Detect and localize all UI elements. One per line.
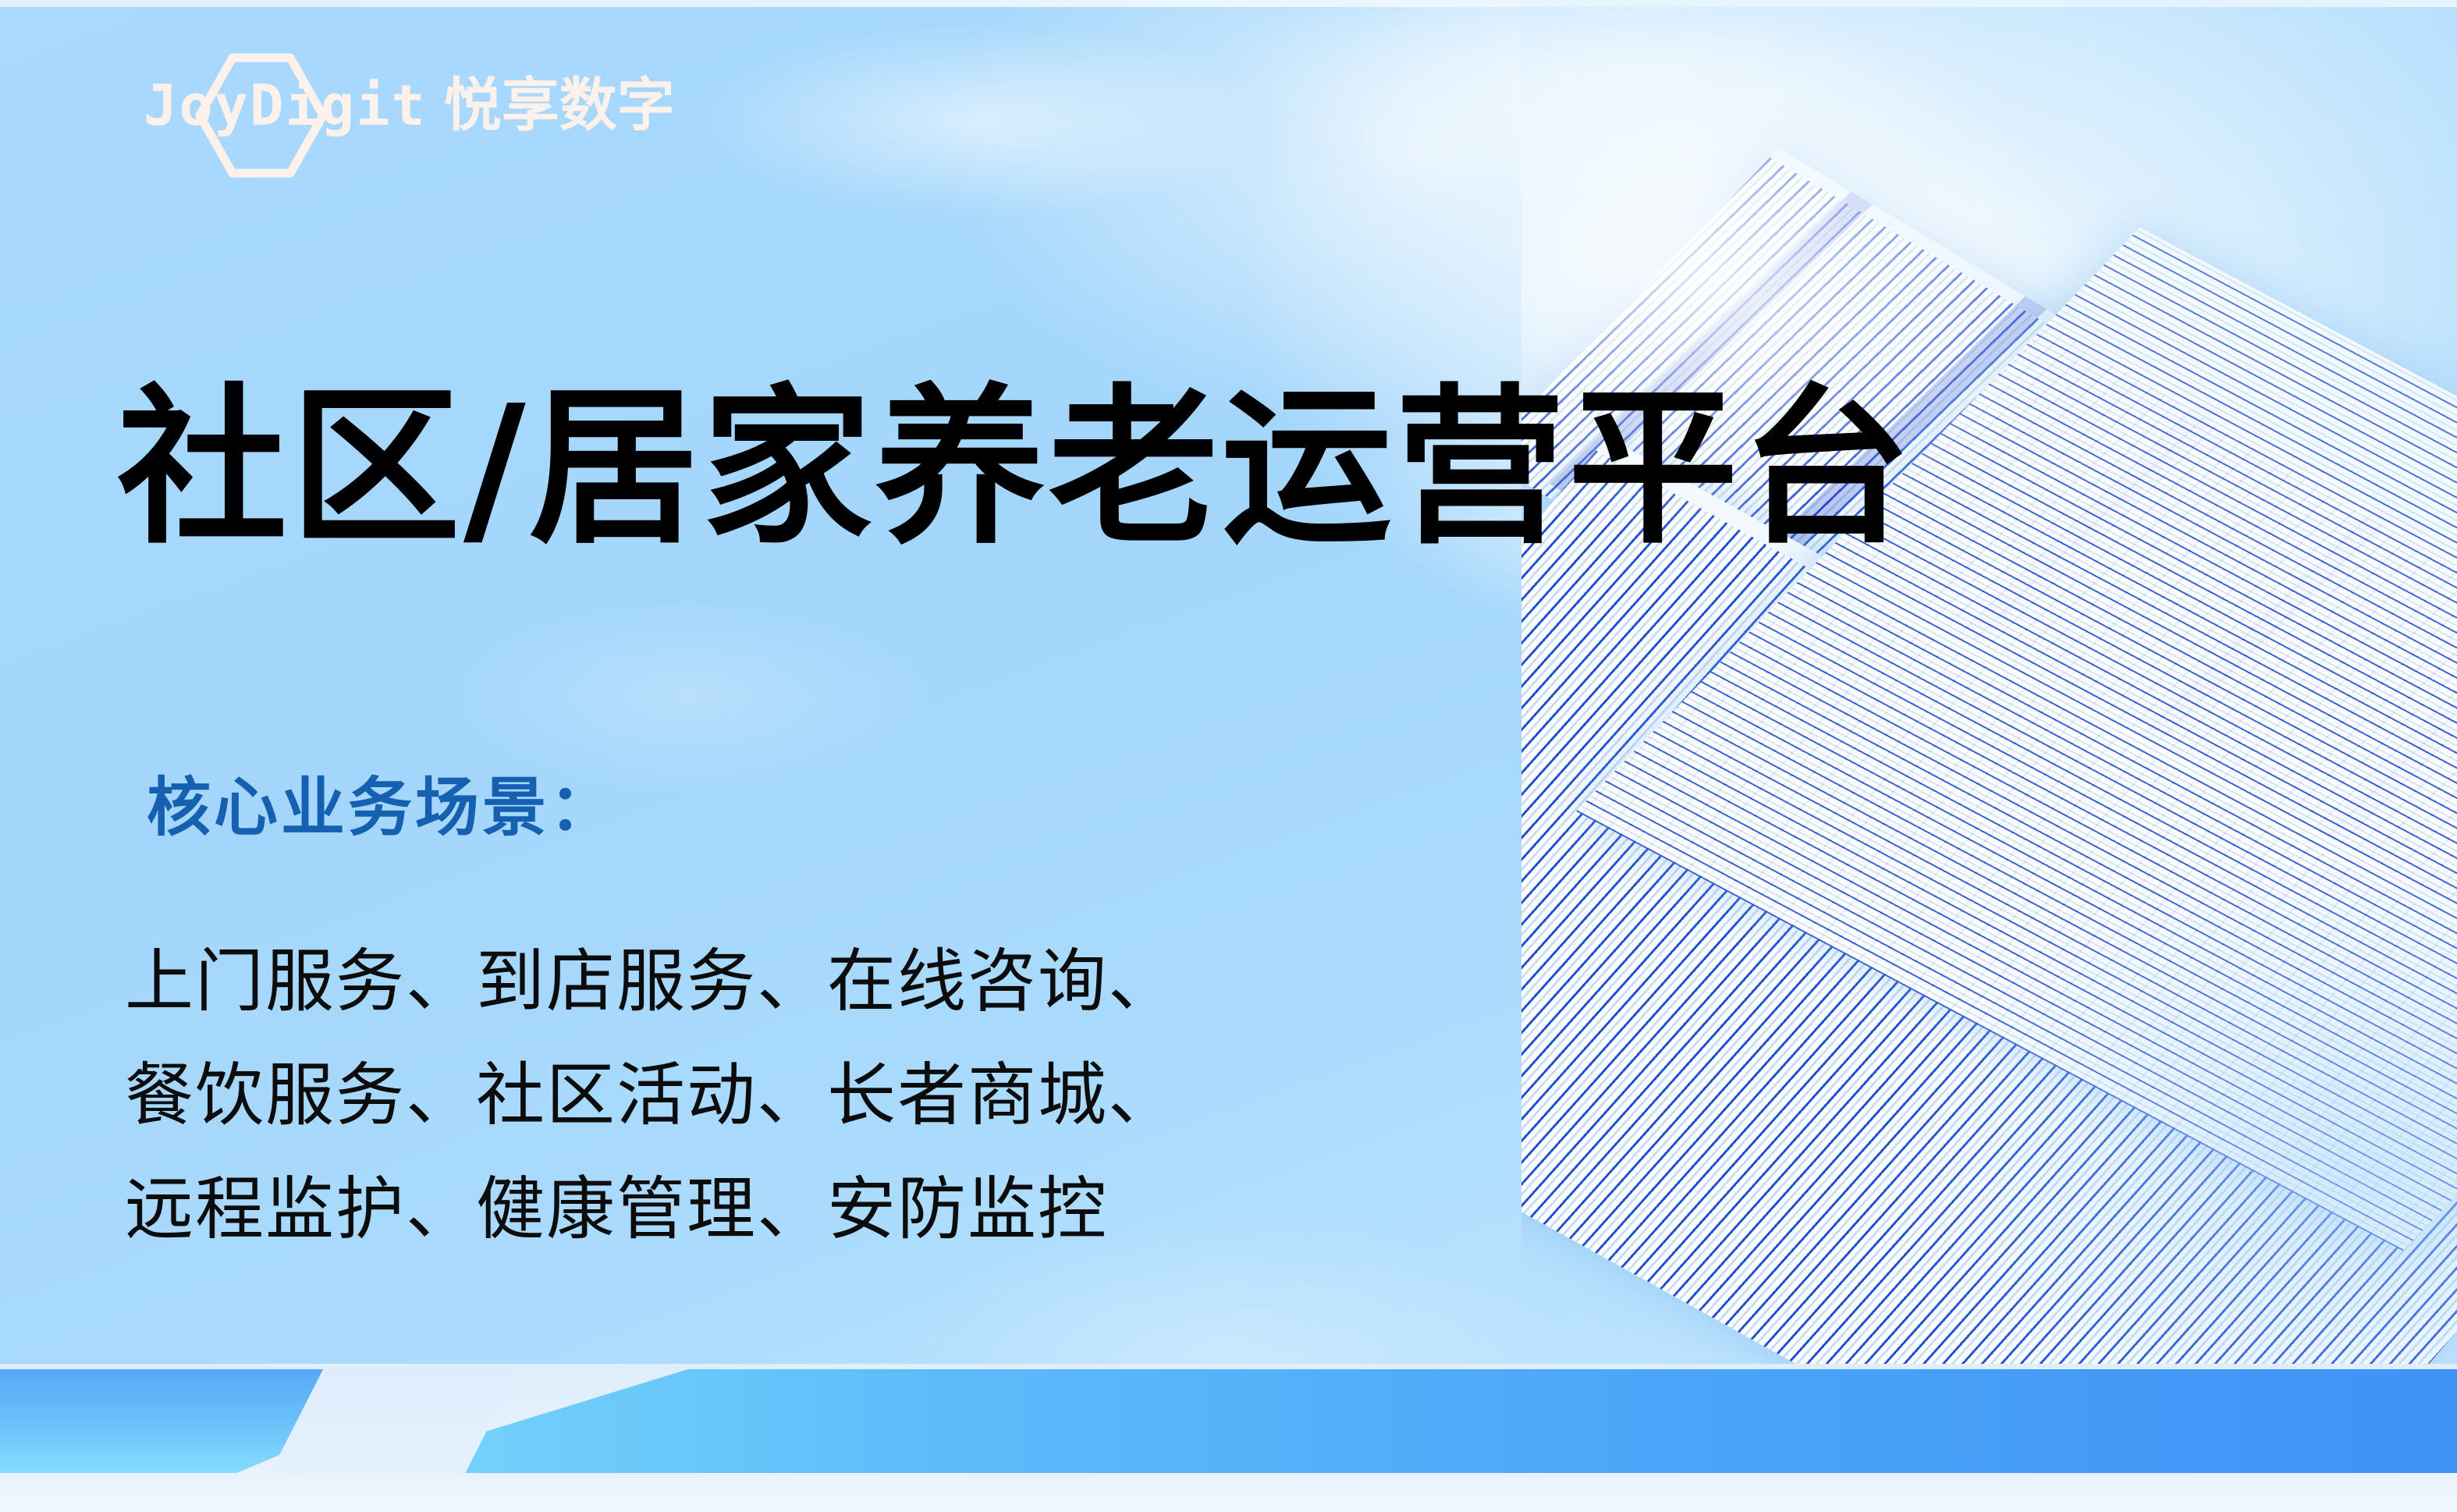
brand-logo[interactable]: JoyDigit悦享数字 [133,47,679,164]
section-heading: 核心业务场景： [147,776,616,840]
slide-root: JoyDigit悦享数字 社区/居家养老运营平台 核心业务场景： 上门服务、到店… [0,0,2457,1512]
scenario-list: 上门服务、到店服务、在线咨询、 餐饮服务、社区活动、长者商城、 远程监护、健康管… [125,925,1178,1266]
brand-logo-text: JoyDigit悦享数字 [144,76,675,134]
brand-logo-latin: JoyDigit [144,73,427,138]
band-shape-right [351,1369,2457,1473]
skyscraper-photo [1521,0,2457,1381]
page-title: 社区/居家养老运营平台 [117,371,1915,567]
brand-logo-cn: 悦享数字 [444,72,675,139]
scenario-line-2: 餐饮服务、社区活动、长者商城、 [125,1038,1178,1152]
scenario-line-1: 上门服务、到店服务、在线咨询、 [125,925,1178,1038]
scenario-line-3: 远程监护、健康管理、安防监控 [125,1152,1178,1266]
footer-accent-band [0,1369,2457,1473]
